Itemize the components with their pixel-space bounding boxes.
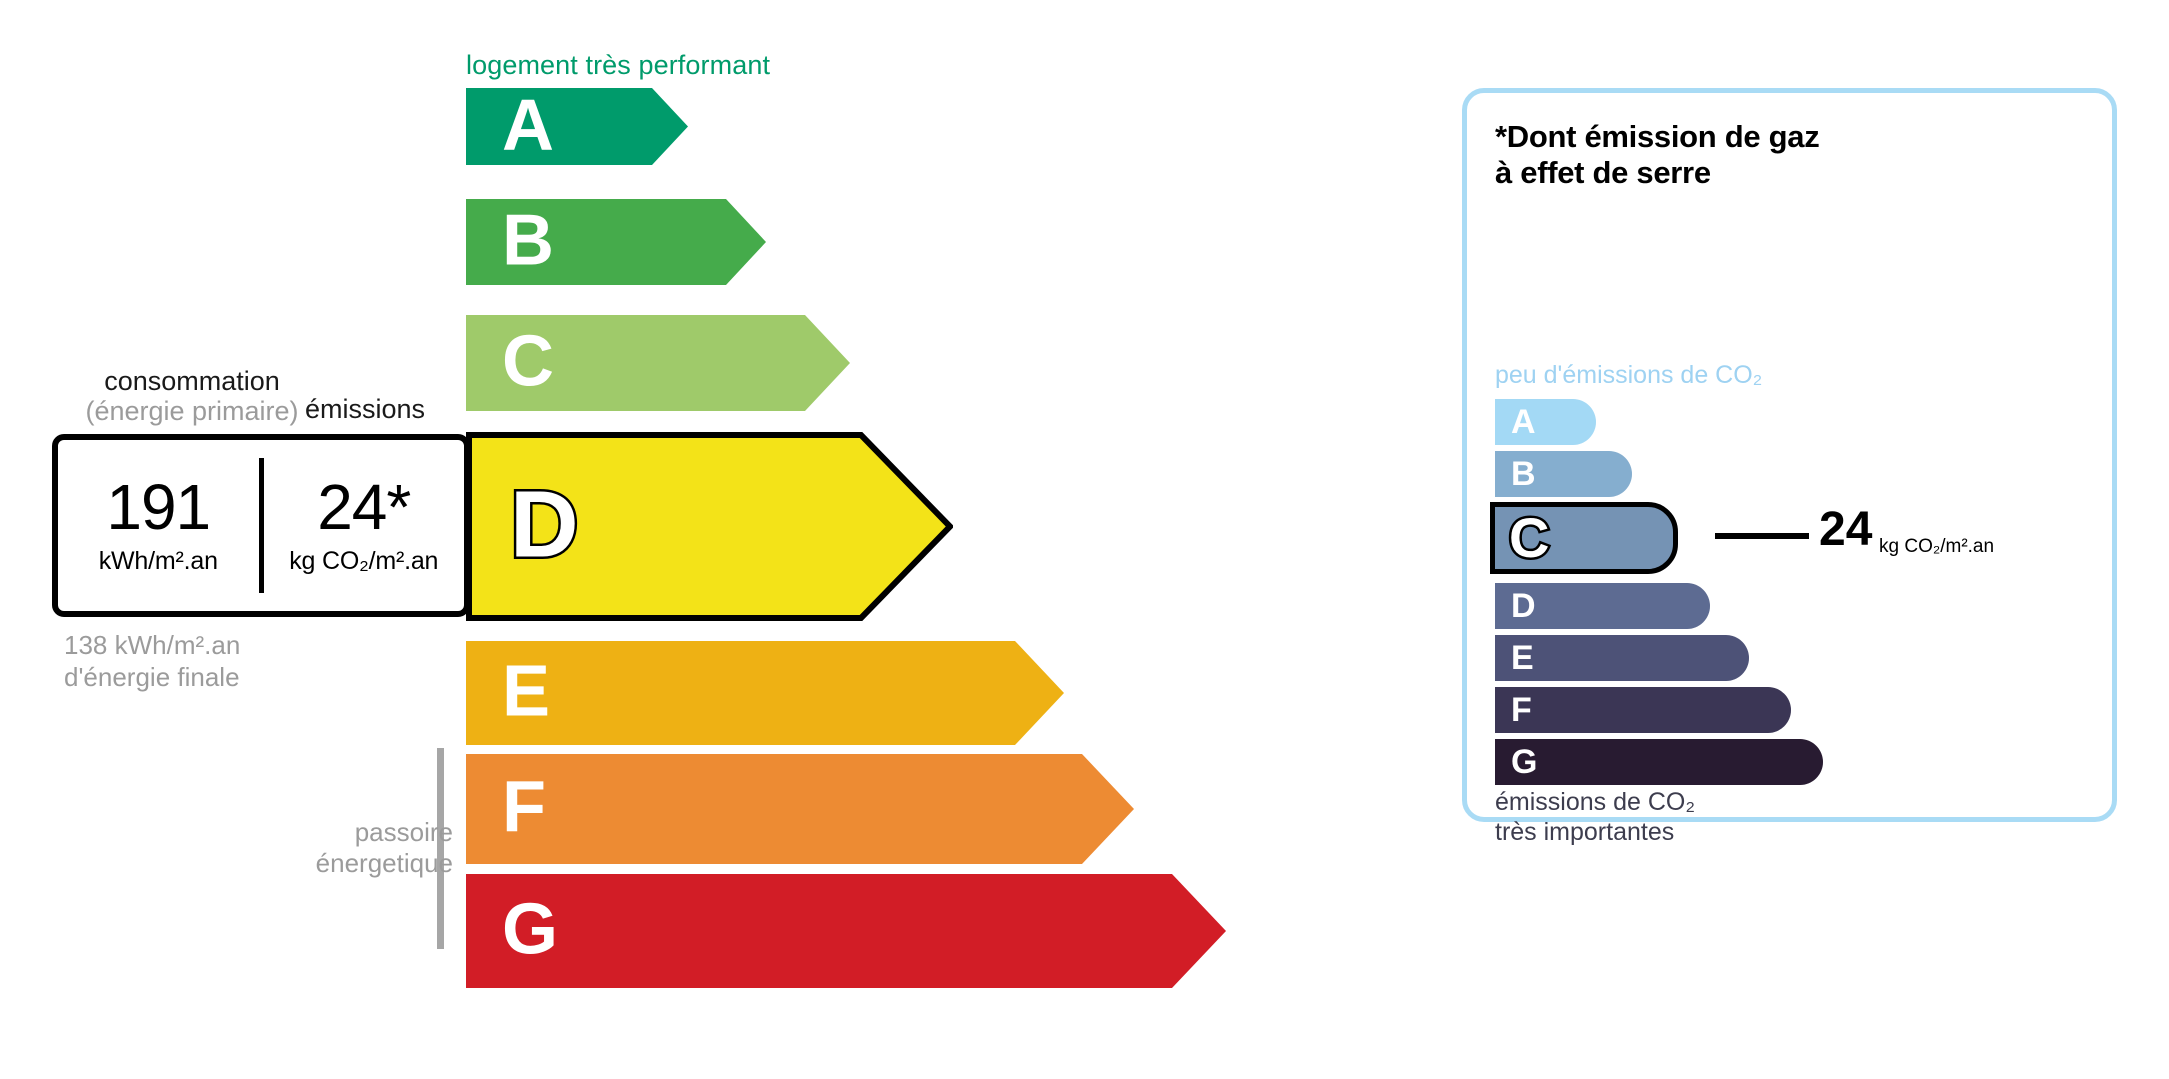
- ges-bar-e: E: [1495, 635, 1749, 681]
- energy-value: 191: [106, 475, 210, 539]
- energy-band-a: A: [466, 88, 688, 165]
- ges-bottom-caption: émissions de CO₂ très importantes: [1495, 787, 1695, 847]
- ges-top-caption: peu d'émissions de CO₂: [1495, 361, 1762, 390]
- final-energy-label: 138 kWh/m².an d'énergie finale: [64, 630, 240, 693]
- passoire-label-line1: passoire: [355, 817, 453, 847]
- consumption-label: consommation (énergie primaire): [62, 366, 322, 426]
- ges-bar-letter-g: G: [1511, 745, 1537, 779]
- ges-bar-b: B: [1495, 451, 1632, 497]
- ges-panel-title-line2: à effet de serre: [1495, 155, 1711, 190]
- ges-bar-letter-a: A: [1511, 405, 1536, 439]
- energy-band-b: B: [466, 199, 766, 285]
- final-energy-line2: d'énergie finale: [64, 662, 240, 692]
- ges-callout-line: [1715, 533, 1809, 539]
- energy-value-cell: 191 kWh/m².an: [58, 440, 259, 611]
- ges-value: 24*: [317, 475, 410, 539]
- rating-value-box: 191 kWh/m².an 24* kg CO₂/m².an: [52, 434, 470, 617]
- ges-bar-letter-d: D: [1511, 589, 1536, 623]
- ges-callout-value: 24: [1819, 506, 1872, 554]
- ges-bar-letter-f: F: [1511, 693, 1532, 727]
- ges-bar-d: D: [1495, 583, 1710, 629]
- energy-band-letter-g: G: [502, 894, 558, 966]
- energy-band-letter-f: F: [502, 772, 546, 844]
- ges-panel-title: *Dont émission de gaz à effet de serre: [1495, 119, 1819, 191]
- final-energy-line1: 138 kWh/m².an: [64, 630, 240, 660]
- energy-band-f: F: [466, 754, 1134, 864]
- ges-value-cell: 24* kg CO₂/m².an: [264, 440, 465, 611]
- energy-band-letter-e: E: [502, 656, 550, 728]
- consumption-label-sub: (énergie primaire): [62, 396, 322, 426]
- ges-callout-unit: kg CO₂/m².an: [1879, 537, 1994, 556]
- energy-rating-chart: logement très performant A B C D E F G l…: [0, 0, 1300, 1079]
- consumption-label-main: consommation: [104, 366, 280, 396]
- ladder-top-caption: logement très performant: [466, 50, 770, 81]
- ges-bar-g: G: [1495, 739, 1823, 785]
- ges-panel-title-line1: *Dont émission de gaz: [1495, 119, 1819, 154]
- ges-bottom-caption-line1: émissions de CO₂: [1495, 788, 1695, 816]
- emissions-label: émissions: [305, 394, 425, 425]
- ges-bar-f: F: [1495, 687, 1791, 733]
- passoire-label: passoire énergetique: [278, 817, 453, 879]
- ges-bar-a: A: [1495, 399, 1596, 445]
- ges-bar-c: C: [1490, 502, 1678, 574]
- ges-unit: kg CO₂/m².an: [289, 547, 438, 576]
- energy-unit: kWh/m².an: [99, 547, 218, 576]
- ges-bottom-caption-line2: très importantes: [1495, 818, 1674, 846]
- ges-bar-letter-c: C: [1509, 510, 1549, 566]
- energy-band-d: D: [466, 432, 953, 621]
- ges-bar-letter-b: B: [1511, 457, 1536, 491]
- ges-bar-letter-e: E: [1511, 641, 1534, 675]
- energy-band-letter-d: D: [510, 477, 579, 572]
- energy-band-letter-b: B: [502, 205, 554, 277]
- ges-emissions-panel: *Dont émission de gaz à effet de serre p…: [1462, 88, 2117, 822]
- energy-band-g: G: [466, 874, 1226, 988]
- energy-band-letter-a: A: [502, 89, 554, 161]
- energy-band-letter-c: C: [502, 326, 554, 398]
- energy-band-e: E: [466, 641, 1064, 745]
- passoire-label-line2: énergetique: [316, 848, 453, 878]
- energy-band-c: C: [466, 315, 850, 411]
